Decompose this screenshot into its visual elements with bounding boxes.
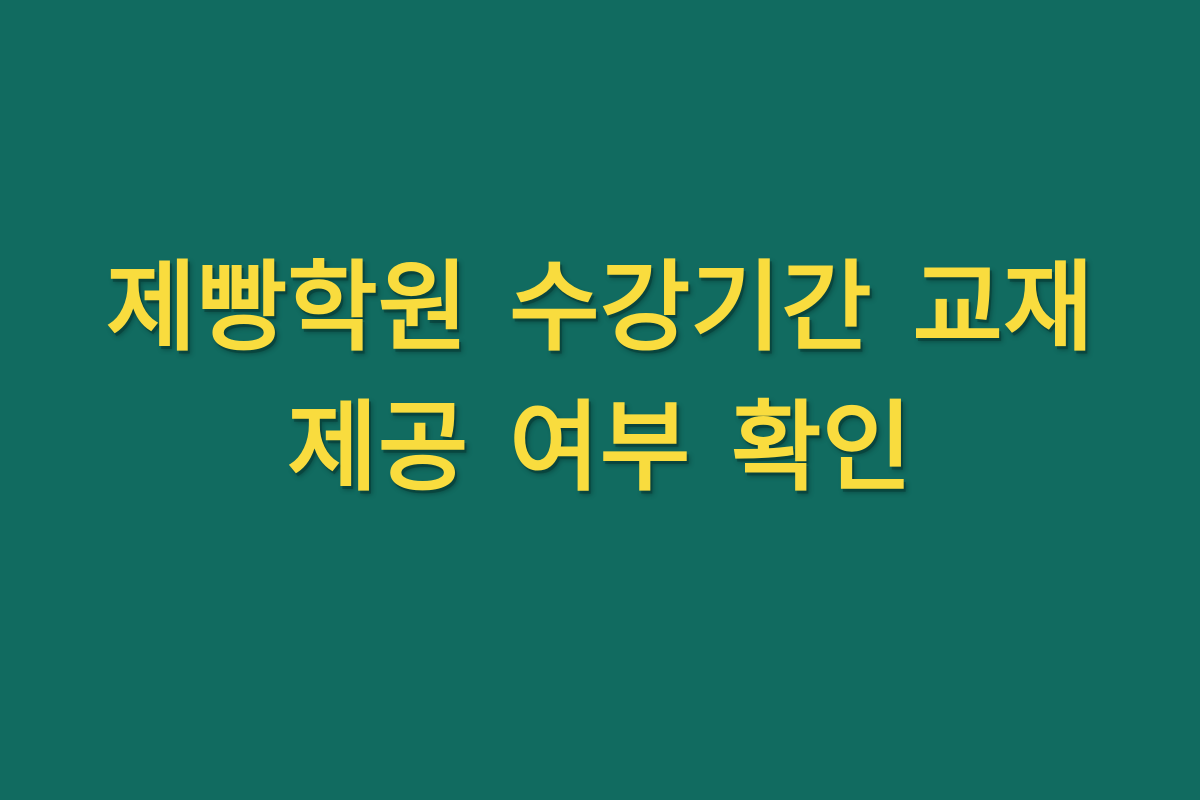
headline-text: 제빵학원 수강기간 교재 제공 여부 확인 bbox=[40, 238, 1160, 518]
banner-canvas: 제빵학원 수강기간 교재 제공 여부 확인 bbox=[0, 0, 1200, 800]
headline-line-1: 제빵학원 수강기간 교재 bbox=[40, 238, 1160, 378]
headline-line-2: 제공 여부 확인 bbox=[40, 378, 1160, 518]
